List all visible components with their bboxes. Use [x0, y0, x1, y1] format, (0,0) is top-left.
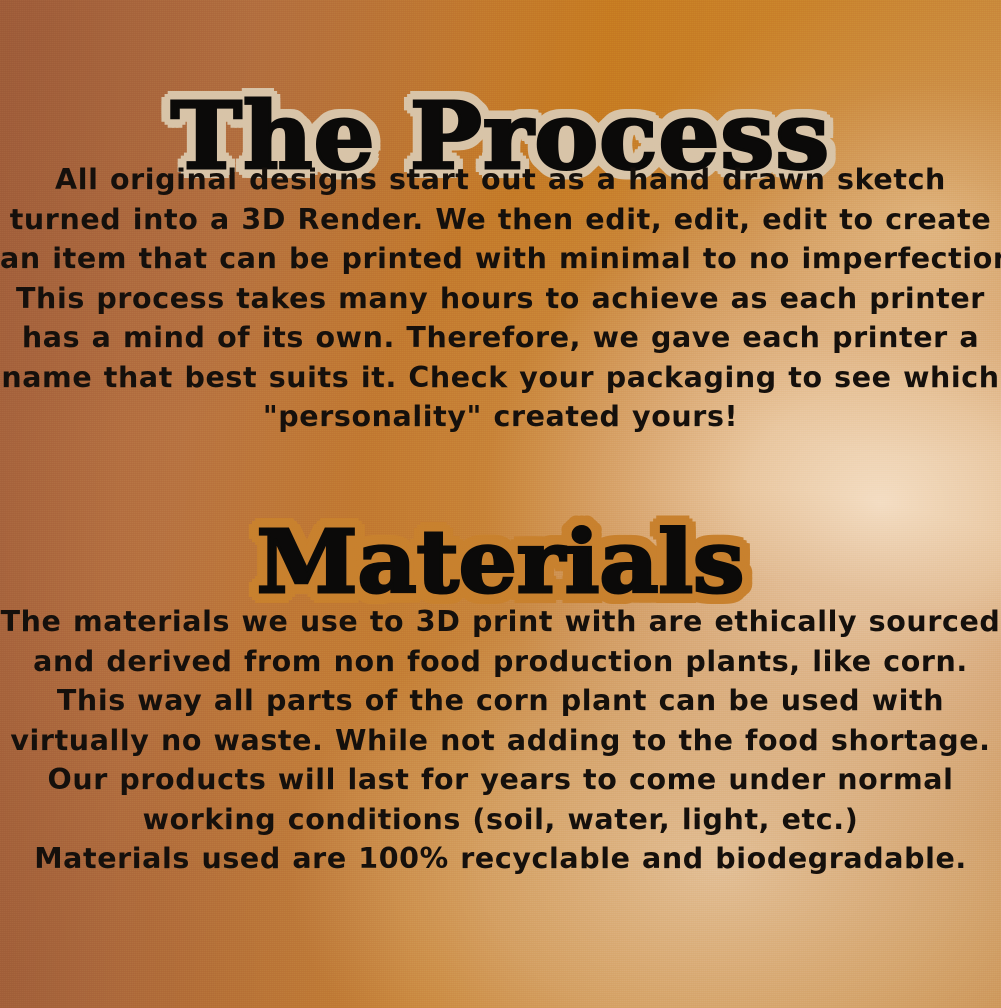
process-paragraph: All original designs start out as a hand… [0, 160, 1001, 437]
materials-line-7: Materials used are 100% recyclable and b… [0, 839, 1001, 879]
materials-line-4: virtually no waste. While not adding to … [0, 721, 1001, 761]
materials-line-6: working conditions (soil, water, light, … [0, 800, 1001, 840]
process-line-6: name that best suits it. Check your pack… [0, 358, 1001, 398]
poster-content: The Process All original designs start o… [0, 0, 1001, 1008]
materials-line-5: Our products will last for years to come… [0, 760, 1001, 800]
materials-line-2: and derived from non food production pla… [0, 642, 1001, 682]
poster-canvas: The Process All original designs start o… [0, 0, 1001, 1008]
process-line-5: has a mind of its own. Therefore, we gav… [0, 318, 1001, 358]
materials-paragraph: The materials we use to 3D print with ar… [0, 602, 1001, 879]
process-line-3: an item that can be printed with minimal… [0, 239, 1001, 279]
materials-heading: Materials [0, 520, 1001, 606]
materials-line-1: The materials we use to 3D print with ar… [0, 602, 1001, 642]
process-line-2: turned into a 3D Render. We then edit, e… [0, 200, 1001, 240]
process-line-7: "personality" created yours! [0, 397, 1001, 437]
materials-line-3: This way all parts of the corn plant can… [0, 681, 1001, 721]
process-line-4: This process takes many hours to achieve… [0, 279, 1001, 319]
process-line-1: All original designs start out as a hand… [0, 160, 1001, 200]
